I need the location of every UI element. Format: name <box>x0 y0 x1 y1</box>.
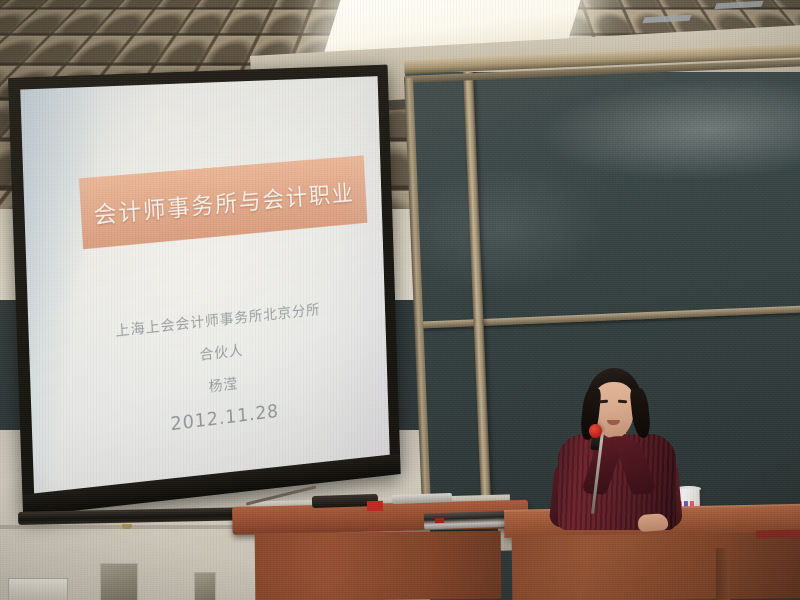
projection-screen-surface: 会计师事务所与会计职业 上海上会会计师事务所北京分所 合伙人 杨滢 2012.1… <box>20 76 390 493</box>
desk-leg <box>716 548 730 600</box>
projection-screen: 会计师事务所与会计职业 上海上会会计师事务所北京分所 合伙人 杨滢 2012.1… <box>8 65 401 517</box>
desk-red-strip <box>756 529 800 538</box>
speaker-hand <box>637 513 668 532</box>
podium-red-object <box>367 501 383 512</box>
speaker-eye <box>599 400 608 404</box>
wall-control-box <box>8 578 68 600</box>
wall-trim-line <box>0 525 240 529</box>
lecture-hall-photo: 会计师事务所与会计职业 上海上会会计师事务所北京分所 合伙人 杨滢 2012.1… <box>0 0 800 600</box>
laptop-indicator-icon <box>435 518 444 523</box>
desk-front-panel <box>512 532 800 600</box>
screen-glare <box>20 76 390 493</box>
microphone-icon <box>589 424 602 438</box>
speaker <box>540 368 690 528</box>
podium-body <box>255 531 502 600</box>
speaker-eye <box>618 400 627 404</box>
wall-vent-panel <box>100 563 138 600</box>
microphone-clip <box>590 438 599 451</box>
speaker-hair-strand <box>629 387 651 439</box>
wall-vent-panel <box>194 572 216 600</box>
